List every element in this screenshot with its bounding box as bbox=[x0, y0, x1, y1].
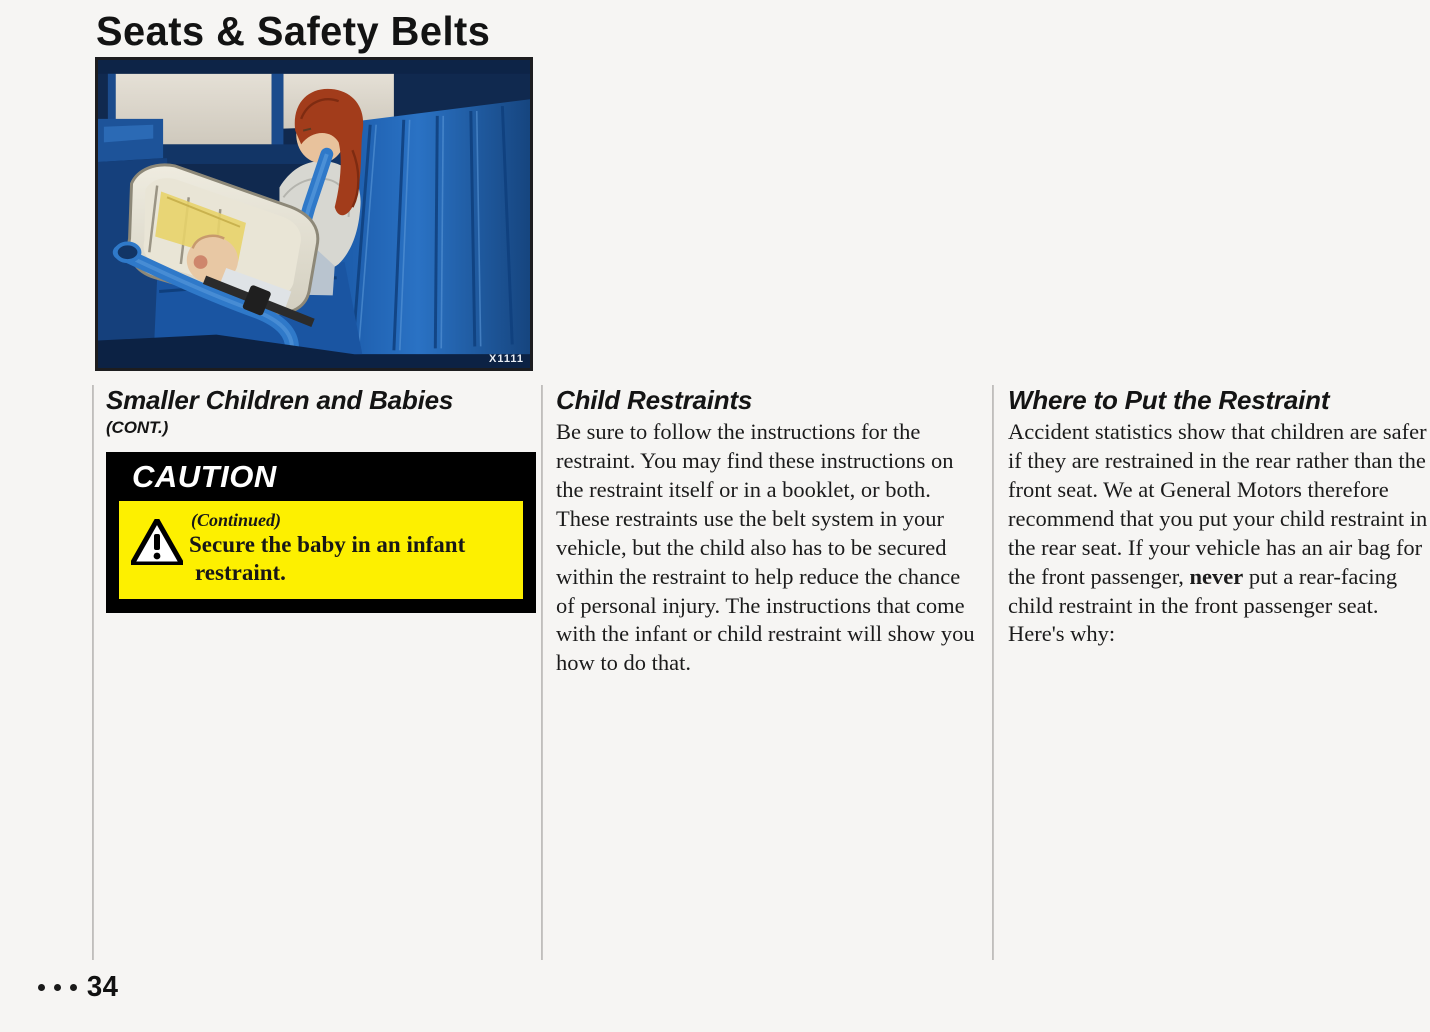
warning-triangle-icon bbox=[131, 519, 183, 565]
seat-illustration: X1111 bbox=[95, 57, 533, 371]
column-divider-middle bbox=[541, 385, 543, 960]
column-divider-right bbox=[992, 385, 994, 960]
middle-column-heading: Child Restraints bbox=[556, 386, 984, 414]
left-column-subheading: (CONT.) bbox=[106, 418, 538, 438]
column-divider-left bbox=[92, 385, 94, 960]
caution-text-line1: Secure the baby in an infant bbox=[189, 532, 465, 557]
right-column-heading: Where to Put the Restraint bbox=[1008, 386, 1430, 414]
page-footer: 34 bbox=[38, 971, 119, 1004]
caution-text: Secure the baby in an infantrestraint. bbox=[129, 531, 511, 587]
caution-header: CAUTION bbox=[110, 456, 532, 499]
right-paragraph-emphasis: never bbox=[1190, 564, 1244, 589]
right-column-paragraph: Accident statistics show that children a… bbox=[1008, 418, 1430, 649]
page-number: 34 bbox=[87, 971, 119, 1004]
footer-dots bbox=[38, 984, 77, 991]
caution-label: CAUTION bbox=[132, 459, 277, 494]
left-column: Smaller Children and Babies (CONT.) CAUT… bbox=[106, 386, 538, 613]
caution-box: CAUTION (Continued) Secure the baby in a… bbox=[106, 452, 536, 613]
caution-text-line2: restraint. bbox=[195, 560, 286, 585]
caution-body: (Continued) Secure the baby in an infant… bbox=[116, 499, 526, 602]
left-column-heading: Smaller Children and Babies bbox=[106, 386, 538, 414]
middle-column: Child Restraints Be sure to follow the i… bbox=[556, 386, 984, 678]
caution-continued-label: (Continued) bbox=[191, 511, 511, 530]
page-title: Seats & Safety Belts bbox=[96, 8, 490, 55]
right-column: Where to Put the Restraint Accident stat… bbox=[1008, 386, 1430, 649]
middle-column-paragraph: Be sure to follow the instructions for t… bbox=[556, 418, 984, 678]
illustration-code: X1111 bbox=[489, 353, 524, 365]
illustration-artwork bbox=[98, 60, 530, 368]
